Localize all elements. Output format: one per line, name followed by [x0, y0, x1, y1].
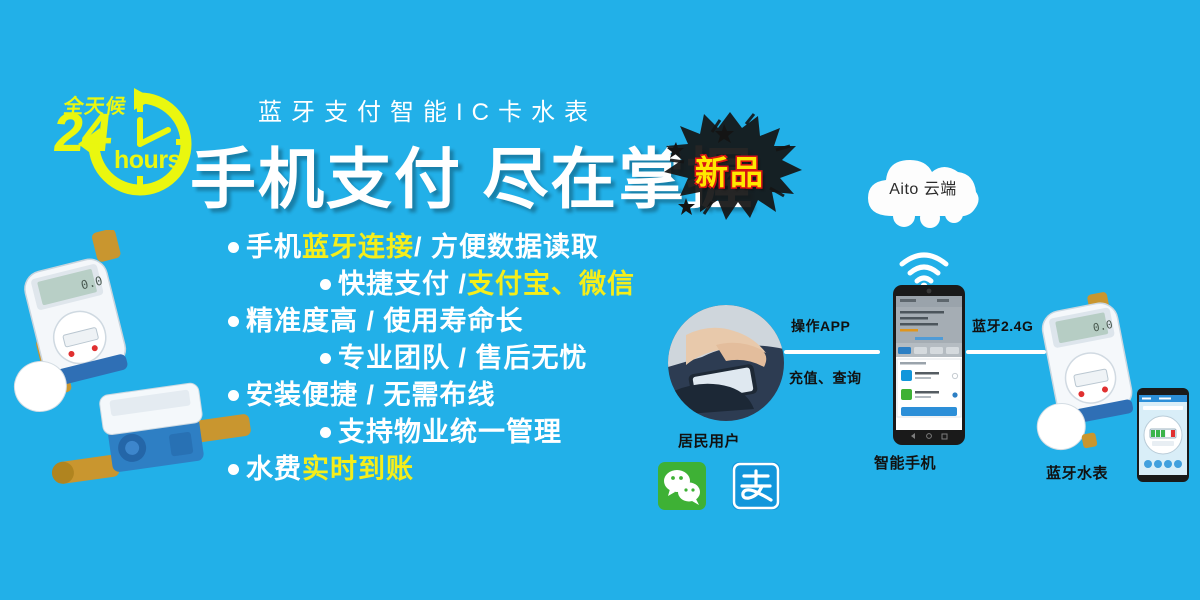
cloud-graphic: Aito 云端 — [858, 150, 988, 228]
bluetooth-water-meter-photo: 0.0 — [1035, 290, 1145, 460]
alipay-glyph — [732, 462, 780, 510]
payment-icons-group — [658, 462, 780, 510]
meter-app-phone-mockup — [1137, 388, 1189, 482]
new-product-label: 新品 — [650, 146, 810, 194]
connector-line-left — [784, 350, 880, 354]
feature-list: 手机 蓝牙连接 / 方便数据读取 快捷支付 / 支付宝、微信 精准度高 / 使用… — [228, 234, 698, 493]
promo-banner: 全天候 24 hours 蓝牙支付智能IC卡水表 手机支付 尽在掌握 新品 手机… — [0, 0, 1200, 600]
feature-post: / 方便数据读取 — [414, 234, 599, 261]
wechat-icon[interactable] — [658, 462, 706, 510]
bullet-dot-icon — [320, 353, 331, 364]
water-meters-illustration: 0.0 — [10, 230, 255, 515]
badge-24-hours: 全天候 24 hours — [48, 84, 198, 202]
caption-smartphone: 智能手机 — [874, 452, 936, 473]
hands-holding-phone-image — [668, 305, 784, 421]
badge-24-unit: hours — [114, 146, 181, 175]
wifi-icon — [898, 250, 950, 290]
label-operate-app: 操作APP — [791, 316, 850, 336]
bullet-dot-icon — [320, 279, 331, 290]
label-recharge-query: 充值、查询 — [789, 368, 862, 388]
badge-24-number: 24 — [51, 106, 113, 160]
smartphone-icon — [893, 285, 965, 445]
feature-pre: 专业团队 / 售后无忧 — [338, 345, 588, 372]
feature-pre: 精准度高 / 使用寿命长 — [246, 308, 524, 335]
list-item: 水费 实时到账 — [228, 456, 698, 483]
bullet-dot-icon — [320, 427, 331, 438]
caption-resident-user: 居民用户 — [678, 430, 740, 451]
list-item: 支持物业统一管理 — [320, 419, 698, 446]
list-item: 快捷支付 / 支付宝、微信 — [320, 271, 698, 298]
feature-highlight: 支付宝、微信 — [467, 271, 635, 298]
feature-pre: 支持物业统一管理 — [338, 419, 562, 446]
wechat-glyph — [658, 462, 706, 510]
feature-pre: 安装便捷 / 无需布线 — [246, 382, 496, 409]
cloud-label: Aito 云端 — [858, 175, 988, 199]
feature-highlight: 实时到账 — [302, 456, 414, 483]
connector-line-right — [966, 350, 1046, 354]
smartphone-mockup — [893, 285, 965, 445]
feature-pre: 快捷支付 / — [338, 271, 467, 298]
list-item: 安装便捷 / 无需布线 — [228, 382, 698, 409]
meter-app-phone-icon — [1137, 388, 1189, 482]
wifi-signal — [898, 250, 950, 290]
list-item: 专业团队 / 售后无忧 — [320, 345, 698, 372]
feature-highlight: 蓝牙连接 — [302, 234, 414, 261]
bluetooth-meter-illustration: 0.0 — [1035, 290, 1145, 460]
resident-user-photo — [668, 305, 784, 421]
alipay-icon[interactable] — [732, 462, 780, 510]
label-bluetooth-24g: 蓝牙2.4G — [972, 316, 1033, 336]
water-meter-product-photo: 0.0 — [10, 230, 255, 515]
list-item: 手机 蓝牙连接 / 方便数据读取 — [228, 234, 698, 261]
banner-subtitle: 蓝牙支付智能IC卡水表 — [258, 92, 597, 127]
new-product-badge: 新品 — [650, 98, 810, 228]
list-item: 精准度高 / 使用寿命长 — [228, 308, 698, 335]
caption-bluetooth-meter: 蓝牙水表 — [1046, 462, 1108, 483]
